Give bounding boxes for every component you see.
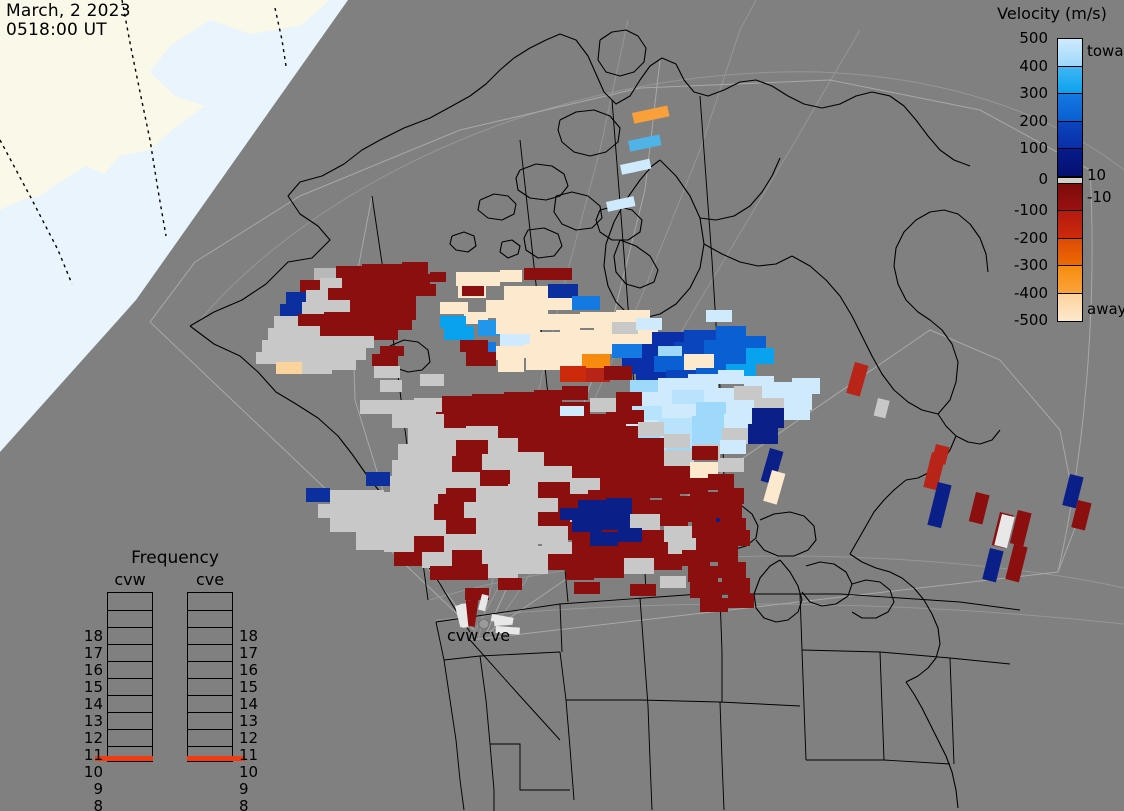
velocity-segment bbox=[1058, 294, 1082, 322]
frequency-legend-title: Frequency bbox=[75, 548, 275, 568]
velocity-segment bbox=[1058, 39, 1082, 67]
frequency-tick-label: 18 bbox=[239, 627, 261, 645]
frequency-tick-label: 15 bbox=[239, 678, 261, 696]
frequency-gridline bbox=[108, 712, 152, 713]
velocity-segment bbox=[1058, 122, 1082, 150]
frequency-gridline bbox=[108, 746, 152, 747]
velocity-zero-band bbox=[1058, 177, 1082, 184]
velocity-away-label: away bbox=[1087, 300, 1124, 318]
frequency-tick-label: 16 bbox=[81, 661, 103, 679]
frequency-tick-label: 11 bbox=[81, 746, 103, 764]
frequency-tick-label: 12 bbox=[239, 729, 261, 747]
frequency-gridline bbox=[108, 695, 152, 696]
frequency-gridline bbox=[108, 644, 152, 645]
frequency-gridline bbox=[108, 729, 152, 730]
frequency-gridline bbox=[108, 661, 152, 662]
velocity-tick-label: -400 bbox=[1014, 284, 1048, 302]
frequency-tick-label: 12 bbox=[81, 729, 103, 747]
velocity-colorbar: Velocity (m/s) 5004003002001000-100-200-… bbox=[975, 2, 1124, 332]
velocity-tick-label: -200 bbox=[1014, 229, 1048, 247]
velocity-segment bbox=[1058, 239, 1082, 267]
frequency-tick-label: 16 bbox=[239, 661, 261, 679]
frequency-gridline bbox=[108, 627, 152, 628]
frequency-gridline bbox=[188, 695, 232, 696]
velocity-colorbar-scale bbox=[1057, 38, 1083, 322]
timestamp-date: March, 2 2023 bbox=[6, 1, 131, 21]
frequency-gridline bbox=[188, 627, 232, 628]
frequency-column-cve-box bbox=[187, 592, 233, 762]
frequency-gridline bbox=[188, 661, 232, 662]
frequency-tick-label: 14 bbox=[239, 695, 261, 713]
velocity-toward-label: toward bbox=[1087, 42, 1124, 60]
radar-map-view: March, 2 20230518:00 UT Velocity (m/s) 5… bbox=[0, 0, 1124, 811]
velocity-tick-label: 0 bbox=[1038, 170, 1048, 188]
velocity-segment bbox=[1058, 211, 1082, 239]
frequency-tick-label: 8 bbox=[239, 797, 261, 811]
frequency-gridline bbox=[188, 712, 232, 713]
frequency-gridline bbox=[188, 610, 232, 611]
velocity-tick-label: -100 bbox=[1014, 201, 1048, 219]
frequency-gridline bbox=[108, 610, 152, 611]
frequency-tick-label: 11 bbox=[239, 746, 261, 764]
frequency-tick-label: 9 bbox=[81, 780, 103, 798]
velocity-tick-label: 300 bbox=[1019, 84, 1048, 102]
frequency-tick-label: 15 bbox=[81, 678, 103, 696]
velocity-segment bbox=[1058, 266, 1082, 294]
velocity-tick-label: 100 bbox=[1019, 139, 1048, 157]
velocity-segment bbox=[1058, 184, 1082, 212]
frequency-tick-label: 8 bbox=[81, 797, 103, 811]
frequency-gridline bbox=[188, 644, 232, 645]
frequency-gridline bbox=[108, 678, 152, 679]
velocity-inner-upper-label: 10 bbox=[1087, 166, 1106, 184]
frequency-tick-label: 17 bbox=[81, 644, 103, 662]
frequency-gridline bbox=[188, 746, 232, 747]
frequency-column-cvw-header: cvw bbox=[107, 570, 153, 589]
velocity-colorbar-title: Velocity (m/s) bbox=[980, 4, 1124, 23]
velocity-segment bbox=[1058, 67, 1082, 95]
frequency-tick-label: 13 bbox=[239, 712, 261, 730]
site-label-cvw: cvw bbox=[447, 626, 478, 645]
frequency-tick-label: 10 bbox=[81, 763, 103, 781]
velocity-tick-label: -300 bbox=[1014, 256, 1048, 274]
frequency-tick-label: 9 bbox=[239, 780, 261, 798]
velocity-tick-label: 400 bbox=[1019, 57, 1048, 75]
frequency-marker-cve bbox=[187, 756, 245, 761]
velocity-segment bbox=[1058, 149, 1082, 177]
timestamp-time: 0518:00 UT bbox=[6, 20, 107, 40]
frequency-column-cve-header: cve bbox=[187, 570, 233, 589]
frequency-tick-label: 14 bbox=[81, 695, 103, 713]
frequency-gridline bbox=[188, 729, 232, 730]
frequency-gridline bbox=[188, 678, 232, 679]
timestamp: March, 2 20230518:00 UT bbox=[6, 2, 131, 40]
site-label-cve: cve bbox=[482, 626, 510, 645]
velocity-inner-lower-label: -10 bbox=[1087, 188, 1112, 206]
frequency-tick-label: 10 bbox=[239, 763, 261, 781]
velocity-segment bbox=[1058, 94, 1082, 122]
frequency-tick-label: 13 bbox=[81, 712, 103, 730]
frequency-tick-label: 17 bbox=[239, 644, 261, 662]
frequency-marker-cvw bbox=[95, 756, 153, 761]
velocity-tick-label: 200 bbox=[1019, 112, 1048, 130]
frequency-tick-label: 18 bbox=[81, 627, 103, 645]
velocity-tick-label: 500 bbox=[1019, 29, 1048, 47]
frequency-column-cvw-box bbox=[107, 592, 153, 762]
frequency-legend: Frequency cvw 18171615141312111098 cve 1… bbox=[75, 548, 275, 788]
velocity-tick-label: -500 bbox=[1014, 311, 1048, 329]
